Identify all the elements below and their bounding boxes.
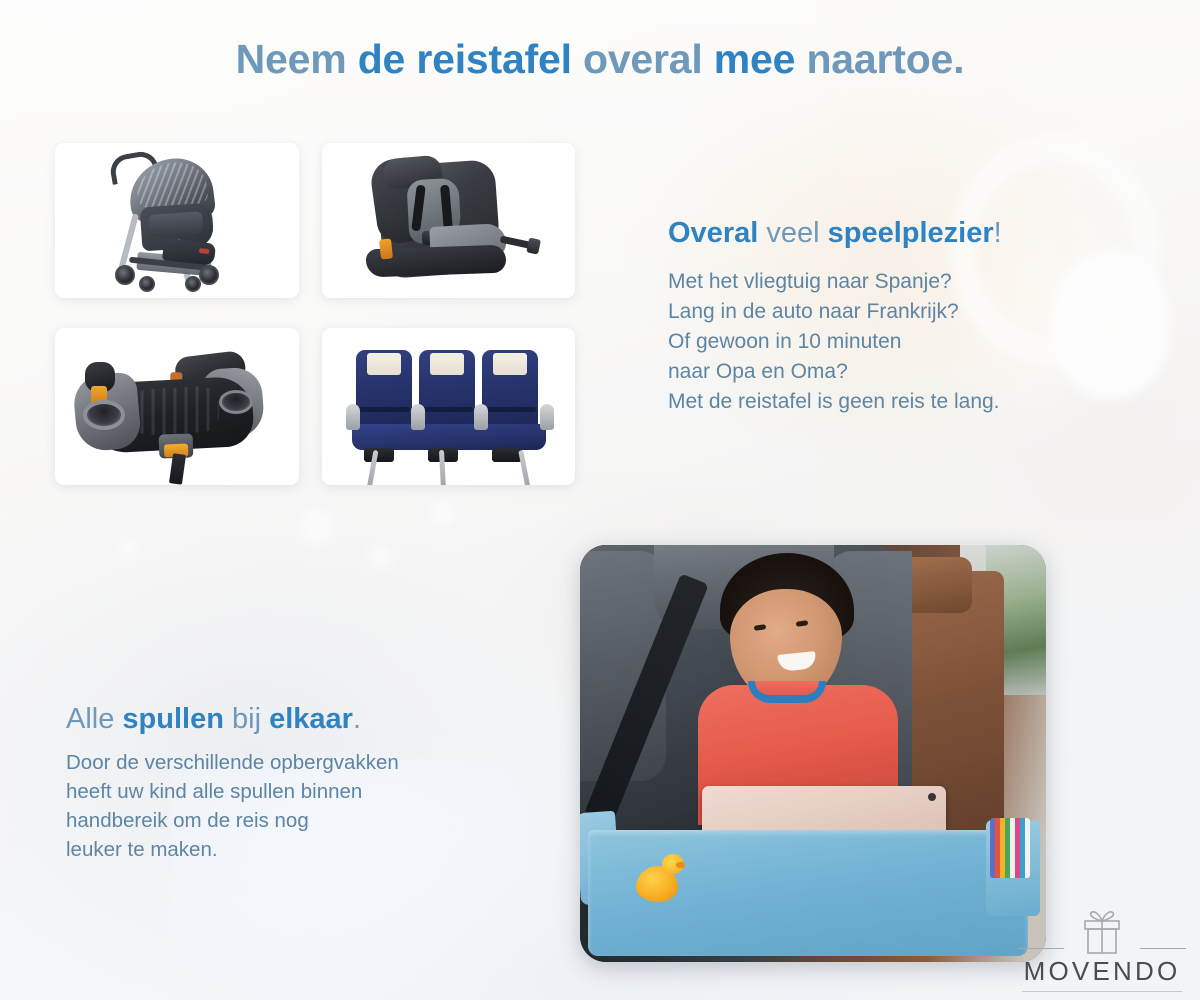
airplane-seat-cushion-row [352,424,546,450]
section-speelplezier: Overal veel speelplezier! Met het vliegt… [668,216,1138,417]
airplane-seat [482,350,538,428]
booster-seat-illustration [55,328,299,485]
logo-underline [1022,991,1182,992]
airplane-seat [419,350,475,428]
body-line: handbereik om de reis nog [66,806,536,835]
body-line: Met het vliegtuig naar Spanje? [668,267,1138,297]
body-line: Of gewoon in 10 minuten [668,327,1138,357]
hero-crayons [990,818,1030,878]
heading-part-bold: spullen [122,703,224,735]
airplane-armrest [540,404,554,430]
booster-seat-strap [169,453,186,485]
gift-box-icon [1073,908,1131,959]
stroller-wheel [199,265,219,285]
product-card-airplane-seats[interactable] [322,328,575,485]
heading-part-bold: Overal [668,217,758,249]
body-line: heeft uw kind alle spullen binnen [66,777,536,806]
body-line: naar Opa en Oma? [668,357,1138,387]
airplane-underseat-box [364,448,394,462]
heading-part: bij [224,703,269,735]
body-line: Met de reistafel is geen reis te lang. [668,387,1138,417]
stroller-wheel [115,265,135,285]
heading-part: veel [758,217,827,249]
booster-seat-cup-holder [83,400,125,430]
body-line: Lang in de auto naar Frankrijk? [668,297,1138,327]
car-seat-orange-release [379,238,393,259]
heading-part-bold: speelplezier [828,217,994,249]
page-title-part: overal [572,36,714,82]
airplane-underseat-box [492,448,522,462]
airplane-seats-illustration [322,328,575,485]
stroller-illustration [55,143,299,298]
product-card-car-seat[interactable] [322,143,575,298]
heading-part: . [353,703,361,735]
section-speelplezier-heading: Overal veel speelplezier! [668,216,1138,251]
product-card-booster-seat[interactable] [55,328,299,485]
product-card-stroller[interactable] [55,143,299,298]
body-line: Door de verschillende opbergvakken [66,748,536,777]
hero-photo[interactable] [580,545,1046,962]
airplane-armrest [411,404,425,430]
section-spullen-body: Door de verschillende opbergvakken heeft… [66,748,536,864]
page-title-part: Neem [236,36,358,82]
heading-part-bold: elkaar [269,703,353,735]
logo-rule-left [1018,948,1064,949]
car-seat-illustration [322,143,575,298]
hero-boy-collar [748,681,826,703]
brand-logo-mark [1018,908,1186,956]
page-title-part-bold: de reistafel [358,36,572,82]
section-speelplezier-body: Met het vliegtuig naar Spanje? Lang in d… [668,267,1138,417]
brand-logo[interactable]: MOVENDO [1018,908,1186,992]
airplane-seat-leg [518,450,531,485]
stroller-wheel [139,276,155,292]
logo-rule-right [1140,948,1186,949]
booster-seat-cup-holder [219,390,253,414]
hero-rubber-duck [636,866,678,902]
heading-part: Alle [66,703,122,735]
airplane-seat [356,350,412,428]
page-title: Neem de reistafel overal mee naartoe. [0,36,1200,83]
poster-canvas: Neem de reistafel overal mee naartoe. [0,0,1200,1000]
airplane-armrest [346,404,360,430]
page-title-part: naartoe. [795,36,964,82]
airplane-armrest [474,404,488,430]
body-line: leuker te maken. [66,835,536,864]
page-title-part-bold: mee [714,36,795,82]
section-spullen: Alle spullen bij elkaar. Door de verschi… [66,702,536,864]
heading-part: ! [994,217,1002,249]
stroller-wheel [185,276,201,292]
section-spullen-heading: Alle spullen bij elkaar. [66,702,536,737]
airplane-seat-row [356,350,542,460]
brand-wordmark: MOVENDO [1018,958,1186,984]
